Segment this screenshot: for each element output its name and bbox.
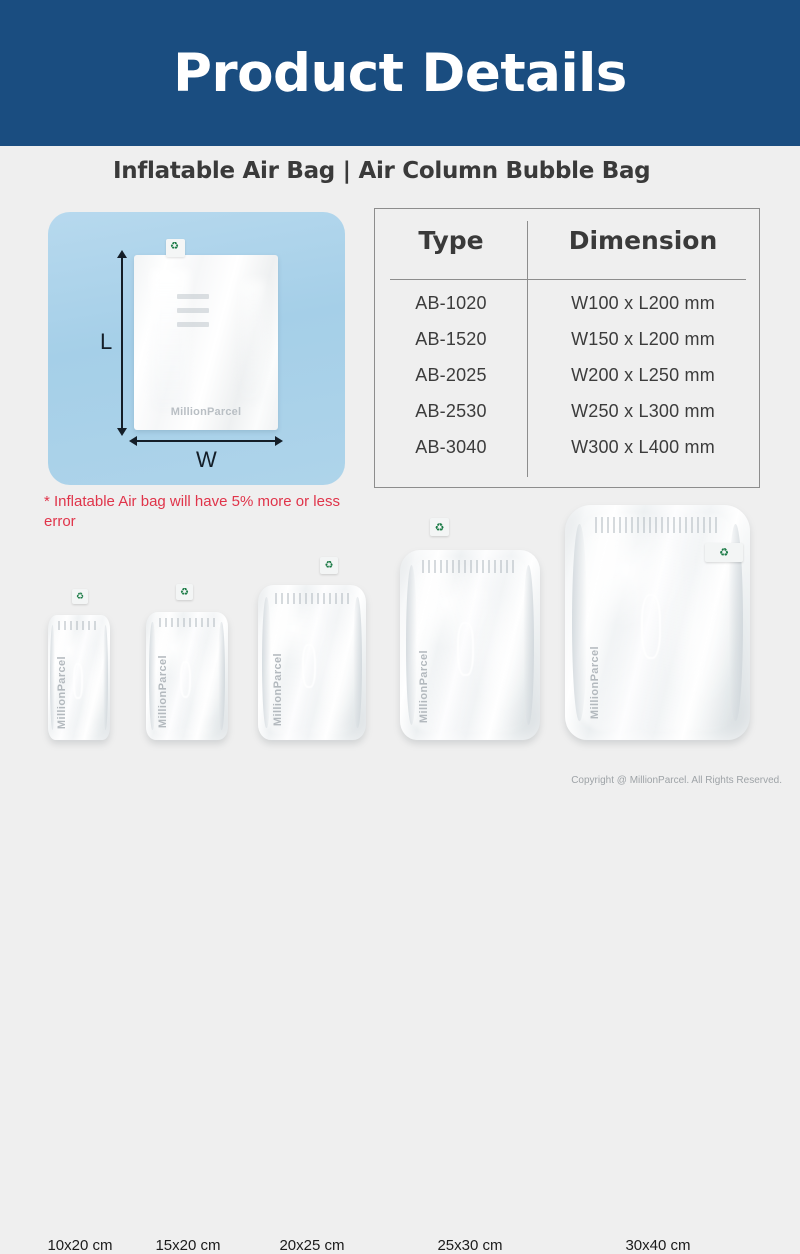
- width-arrow: [136, 440, 276, 442]
- cell-dimension: W200 x L250 mm: [527, 365, 759, 386]
- table-header-rule: [390, 279, 746, 280]
- product-photo-panel: MillionParcel ♻ L W: [48, 212, 345, 485]
- bag-size-label: 25x30 cm: [420, 1237, 520, 1254]
- recycle-icon: ♻: [705, 543, 743, 563]
- bag-watermark: MillionParcel: [272, 653, 284, 726]
- bag-watermark: MillionParcel: [589, 646, 601, 719]
- column-header-dimension: Dimension: [527, 209, 759, 271]
- column-header-type: Type: [375, 209, 527, 271]
- bag-sample-20x25: MillionParcel ♻: [258, 585, 366, 740]
- cell-type: AB-1520: [375, 329, 527, 350]
- copyright-text: Copyright @ MillionParcel. All Rights Re…: [571, 775, 782, 786]
- bag-size-label: 10x20 cm: [30, 1237, 130, 1254]
- table-row: AB-2025 W200 x L250 mm: [375, 357, 759, 393]
- page-header: Product Details: [0, 0, 800, 146]
- table-row: AB-1020 W100 x L200 mm: [375, 285, 759, 321]
- cell-dimension: W250 x L300 mm: [527, 401, 759, 422]
- table-header-row: Type Dimension: [375, 209, 759, 271]
- cell-dimension: W150 x L200 mm: [527, 329, 759, 350]
- recycle-icon: ♻: [72, 589, 88, 621]
- deflated-bag-image: MillionParcel: [134, 255, 278, 430]
- page-title: Product Details: [173, 43, 627, 104]
- cell-type: AB-2530: [375, 401, 527, 422]
- recycle-icon: ♻: [166, 239, 185, 277]
- recycle-icon: ♻: [320, 557, 338, 593]
- bag-sample-30x40: MillionParcel ♻: [565, 505, 750, 740]
- length-arrow: [121, 257, 123, 429]
- bag-sample-10x20: MillionParcel ♻: [48, 615, 110, 740]
- recycle-icon: ♻: [430, 518, 449, 558]
- cell-type: AB-1020: [375, 293, 527, 314]
- table-body: AB-1020 W100 x L200 mm AB-1520 W150 x L2…: [375, 285, 759, 465]
- cell-dimension: W100 x L200 mm: [527, 293, 759, 314]
- bag-watermark: MillionParcel: [56, 656, 68, 729]
- bag-watermark: MillionParcel: [157, 655, 169, 728]
- product-subtitle: Inflatable Air Bag | Air Column Bubble B…: [113, 158, 650, 184]
- bag-sample-15x20: MillionParcel ♻: [146, 612, 228, 740]
- bag-watermark: MillionParcel: [418, 650, 430, 723]
- table-row: AB-1520 W150 x L200 mm: [375, 321, 759, 357]
- cell-type: AB-2025: [375, 365, 527, 386]
- bag-crease-lines: [177, 294, 209, 350]
- bag-watermark: MillionParcel: [134, 406, 278, 418]
- bag-size-label: 15x20 cm: [138, 1237, 238, 1254]
- cell-type: AB-3040: [375, 437, 527, 458]
- length-label: L: [100, 329, 112, 355]
- bag-size-label: 30x40 cm: [608, 1237, 708, 1254]
- recycle-icon: ♻: [176, 584, 193, 618]
- specification-table: Type Dimension AB-1020 W100 x L200 mm AB…: [374, 208, 760, 488]
- cell-dimension: W300 x L400 mm: [527, 437, 759, 458]
- table-row: AB-2530 W250 x L300 mm: [375, 393, 759, 429]
- width-label: W: [196, 447, 217, 473]
- bag-size-label: 20x25 cm: [262, 1237, 362, 1254]
- bag-sample-25x30: MillionParcel ♻: [400, 550, 540, 740]
- bag-size-gallery: MillionParcel ♻ MillionParcel ♻ MillionP…: [0, 495, 800, 740]
- table-row: AB-3040 W300 x L400 mm: [375, 429, 759, 465]
